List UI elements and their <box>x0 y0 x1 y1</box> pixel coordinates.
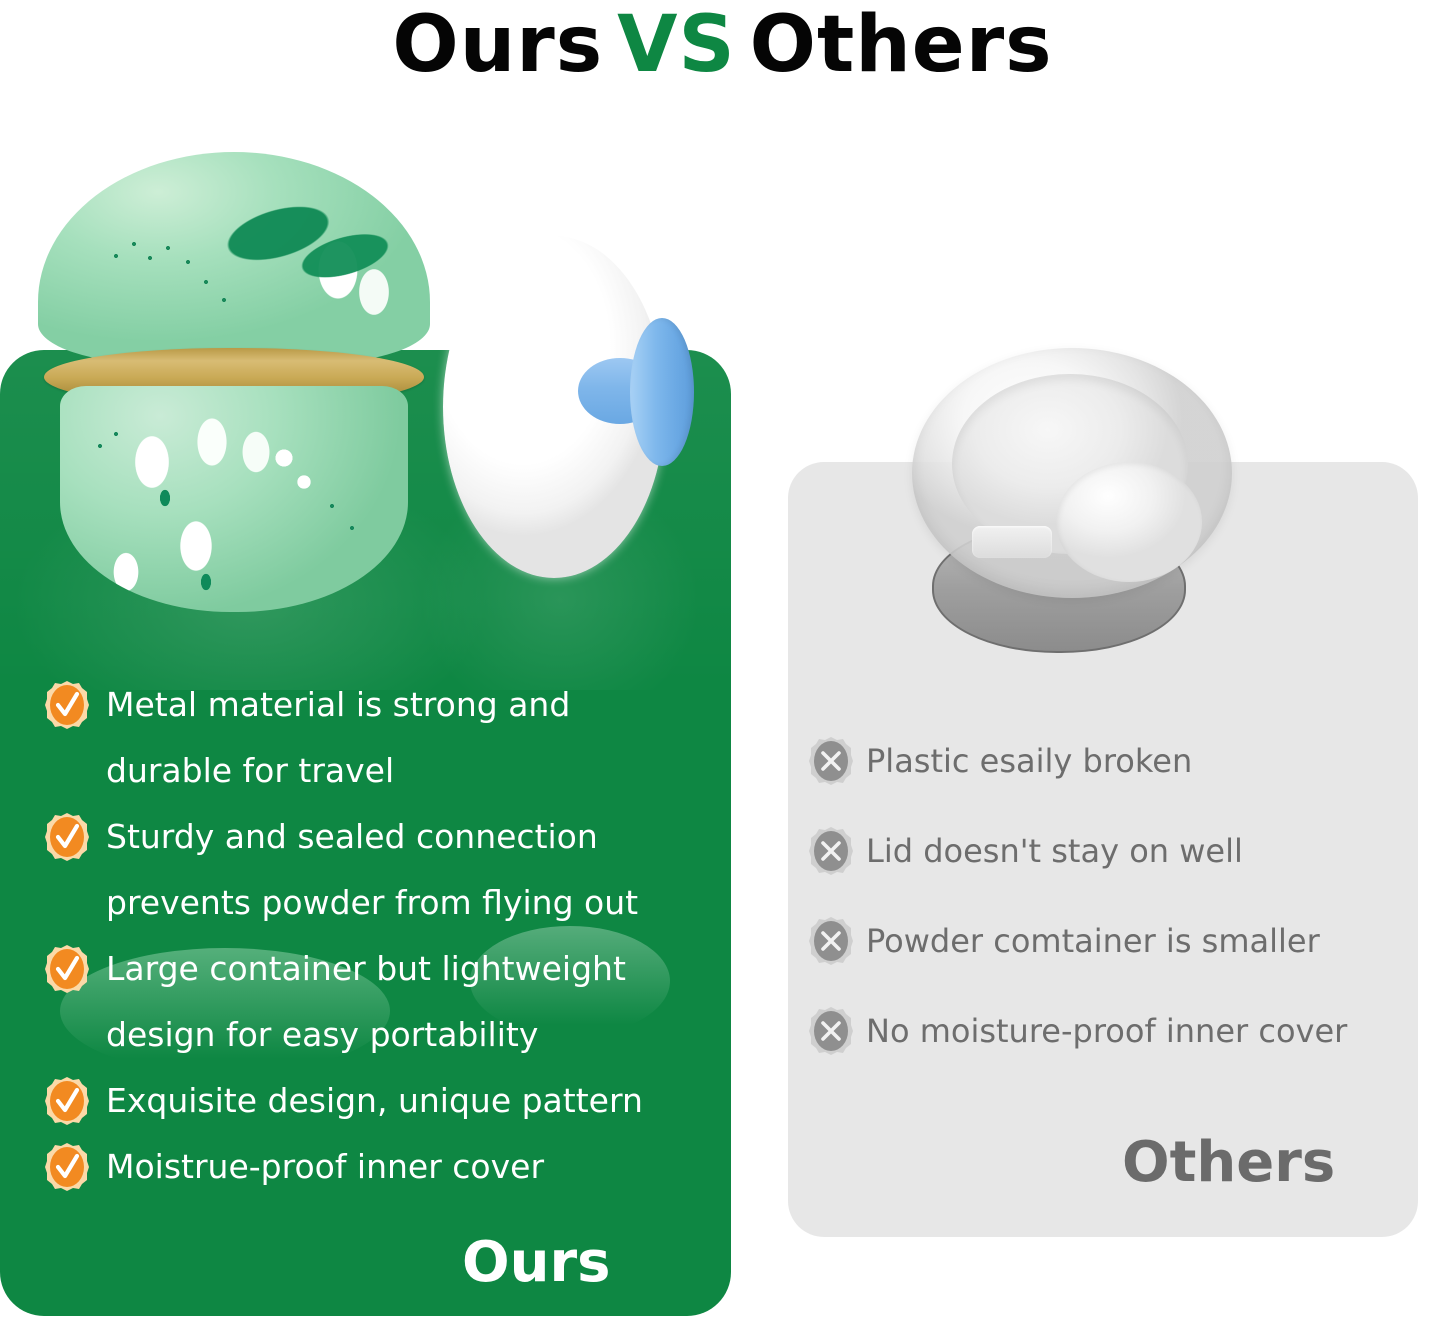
list-item-label: Large container but lightweight design f… <box>106 936 684 1068</box>
list-item-label: Lid doesn't stay on well <box>866 832 1243 870</box>
plastic-powder-container-image <box>912 348 1242 668</box>
list-item: No moisture-proof inner cover <box>808 986 1418 1076</box>
powder-puff-handle <box>568 318 708 466</box>
check-badge-icon <box>44 812 90 862</box>
list-item: Sturdy and sealed connection prevents po… <box>44 804 684 936</box>
check-badge-icon <box>44 1142 90 1192</box>
list-item-label: No moisture-proof inner cover <box>866 1012 1347 1050</box>
cross-badge-icon <box>808 826 854 876</box>
list-item-label: Metal material is strong and durable for… <box>106 672 684 804</box>
title-vs: VS <box>617 0 736 90</box>
container-lid-tab <box>972 526 1052 558</box>
list-item-label: Plastic esaily broken <box>866 742 1192 780</box>
list-item: Plastic esaily broken <box>808 716 1418 806</box>
title-ours: Ours <box>392 2 603 88</box>
cross-badge-icon <box>808 1006 854 1056</box>
title-others: Others <box>750 2 1053 88</box>
check-badge-icon <box>44 680 90 730</box>
ours-feature-list: Metal material is strong and durable for… <box>44 672 684 1200</box>
list-item: Powder comtainer is smaller <box>808 896 1418 986</box>
list-item-label: Powder comtainer is smaller <box>866 922 1320 960</box>
ours-brand-label: Ours <box>462 1232 610 1294</box>
list-item: Exquisite design, unique pattern <box>44 1068 684 1134</box>
list-item-label: Moistrue-proof inner cover <box>106 1134 684 1200</box>
tin-lid <box>38 152 430 364</box>
list-item: Lid doesn't stay on well <box>808 806 1418 896</box>
comparison-infographic: OursVSOthers Meta <box>0 0 1445 1319</box>
cross-badge-icon <box>808 736 854 786</box>
container-swirl-detail <box>1056 462 1202 582</box>
check-badge-icon <box>44 944 90 994</box>
list-item: Moistrue-proof inner cover <box>44 1134 684 1200</box>
list-item: Large container but lightweight design f… <box>44 936 684 1068</box>
others-feature-list: Plastic esaily broken Lid doesn't stay o… <box>808 716 1418 1076</box>
others-brand-label: Others <box>1122 1132 1335 1194</box>
list-item-label: Sturdy and sealed connection prevents po… <box>106 804 684 936</box>
puff-handle-cap <box>630 318 694 466</box>
tin-body <box>60 386 408 612</box>
check-badge-icon <box>44 1076 90 1126</box>
tin-body-floral-pattern <box>60 386 408 612</box>
list-item-label: Exquisite design, unique pattern <box>106 1068 684 1134</box>
cross-badge-icon <box>808 916 854 966</box>
list-item: Metal material is strong and durable for… <box>44 672 684 804</box>
metal-powder-tin-image <box>38 152 430 602</box>
container-clear-lid <box>912 348 1232 598</box>
page-title: OursVSOthers <box>0 2 1445 88</box>
tin-lid-floral-pattern <box>38 152 430 364</box>
